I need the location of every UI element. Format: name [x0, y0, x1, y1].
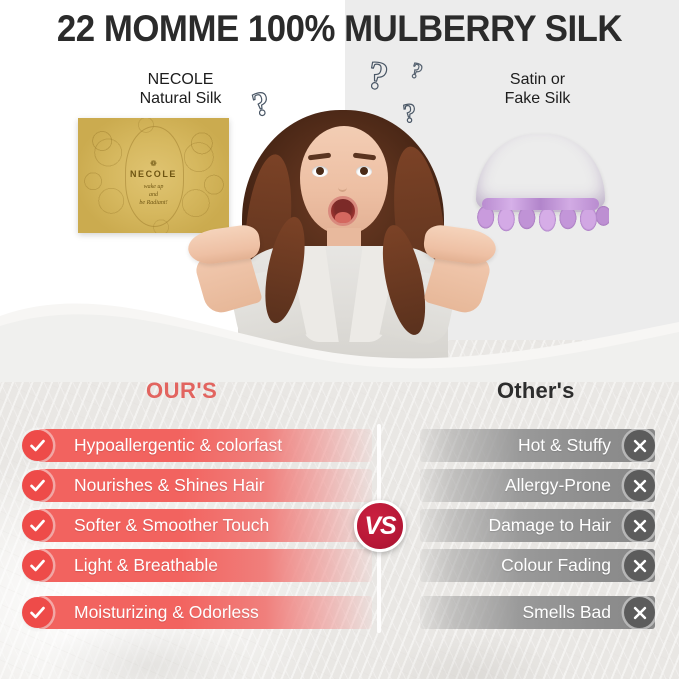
- check-icon: [22, 550, 53, 581]
- others-row-label: Hot & Stuffy: [518, 429, 611, 462]
- others-row[interactable]: Hot & Stuffy: [420, 429, 655, 462]
- product-label-others: Satin or Fake Silk: [450, 70, 625, 108]
- x-icon: [624, 470, 655, 501]
- check-icon: [22, 510, 53, 541]
- column-header-ours: OUR'S: [146, 378, 217, 404]
- satin-bonnet-image: [468, 134, 613, 237]
- ours-row-label: Hypoallergentic & colorfast: [74, 429, 282, 462]
- check-icon: [22, 430, 53, 461]
- x-icon: [624, 510, 655, 541]
- wave-divider: [0, 282, 679, 382]
- ours-row-label: Softer & Smoother Touch: [74, 509, 269, 542]
- ours-row[interactable]: Softer & Smoother Touch: [22, 509, 372, 542]
- brand-name: NECOLE: [78, 169, 229, 179]
- x-icon: [624, 430, 655, 461]
- check-icon: [22, 470, 53, 501]
- others-row[interactable]: Damage to Hair: [420, 509, 655, 542]
- ours-row[interactable]: Light & Breathable: [22, 549, 372, 582]
- ours-row[interactable]: Nourishes & Shines Hair: [22, 469, 372, 502]
- model-nose: [338, 180, 347, 192]
- ours-row-label: Moisturizing & Odorless: [74, 596, 259, 629]
- necole-silk-gift-box: ❁ NECOLE wake up and be Radiant!: [78, 118, 229, 233]
- others-row[interactable]: Smells Bad: [420, 596, 655, 629]
- model-tongue: [335, 212, 351, 223]
- bonnet-band: [482, 198, 599, 210]
- check-icon: [22, 597, 53, 628]
- others-row-label: Smells Bad: [522, 596, 611, 629]
- ours-row[interactable]: Moisturizing & Odorless: [22, 596, 372, 629]
- column-header-others: Other's: [497, 378, 575, 404]
- model-pupil: [316, 167, 324, 175]
- others-row-label: Damage to Hair: [488, 509, 611, 542]
- product-label-ours: NECOLE Natural Silk: [88, 70, 273, 108]
- others-row-label: Allergy-Prone: [505, 469, 611, 502]
- infographic-canvas: 22 MOMME 100% MULBERRY SILK NECOLE Natur…: [0, 0, 679, 679]
- flower-ornament-icon: ❁: [78, 159, 229, 168]
- x-icon: [624, 597, 655, 628]
- others-row[interactable]: Colour Fading: [420, 549, 655, 582]
- vs-label: VS: [364, 514, 395, 539]
- others-row-label: Colour Fading: [501, 549, 611, 582]
- x-icon: [624, 550, 655, 581]
- ours-row[interactable]: Hypoallergentic & colorfast: [22, 429, 372, 462]
- ours-row-label: Light & Breathable: [74, 549, 218, 582]
- ours-row-label: Nourishes & Shines Hair: [74, 469, 265, 502]
- page-title: 22 MOMME 100% MULBERRY SILK: [20, 6, 658, 52]
- brand-tagline: wake up and be Radiant!: [78, 183, 229, 207]
- gift-box-branding: ❁ NECOLE wake up and be Radiant!: [78, 159, 229, 207]
- model-pupil: [360, 167, 368, 175]
- vs-badge: VS: [354, 500, 406, 552]
- others-row[interactable]: Allergy-Prone: [420, 469, 655, 502]
